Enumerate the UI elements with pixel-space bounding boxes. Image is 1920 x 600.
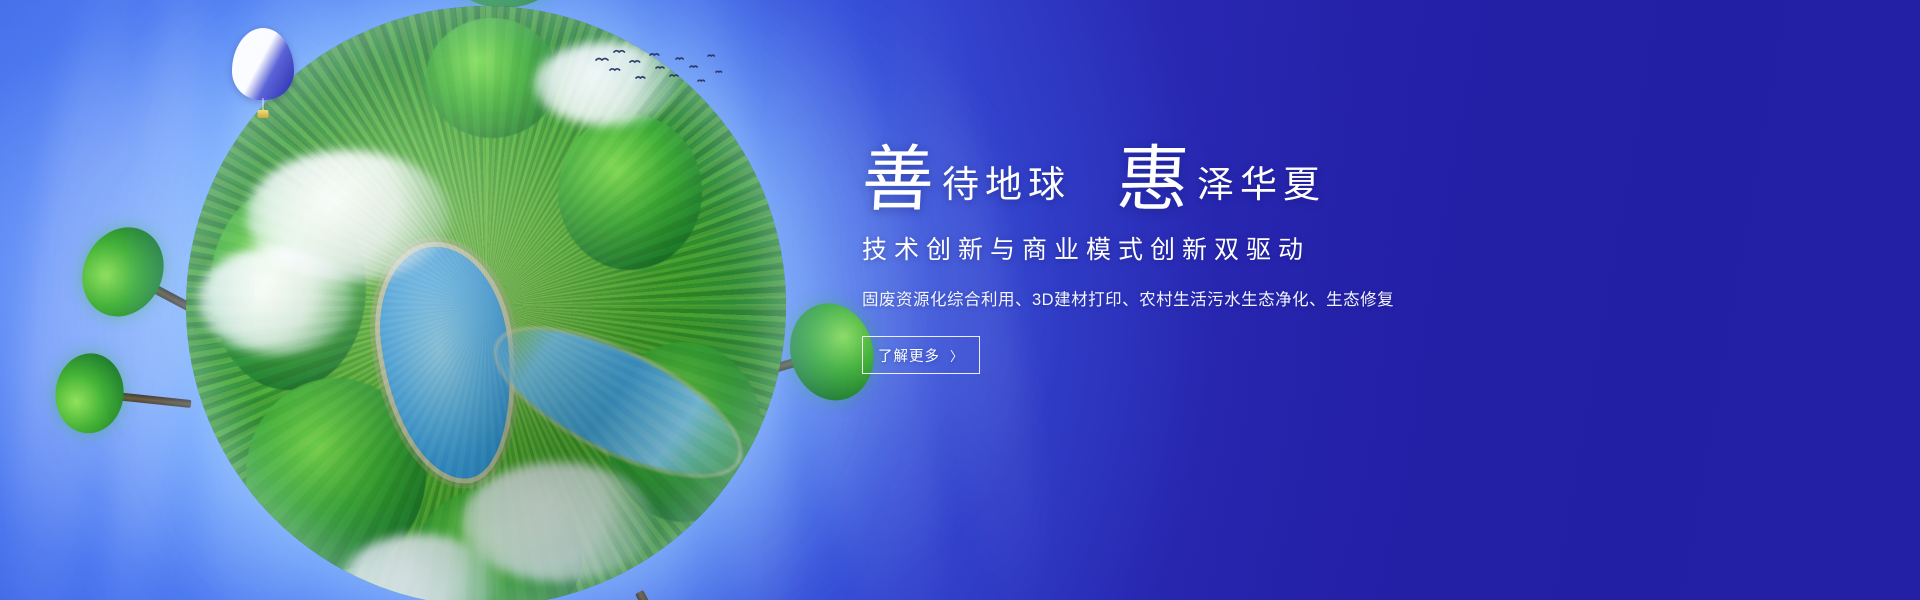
hero-banner: 善 待地球 惠 泽华夏 技术创新与商业模式创新双驱动 固废资源化综合利用、3D建… (0, 0, 1920, 600)
balloon-basket (258, 110, 269, 118)
headline-small-1: 待地球 (934, 167, 1071, 214)
headline: 善 待地球 惠 泽华夏 (862, 118, 1582, 214)
description: 固废资源化综合利用、3D建材打印、农村生活污水生态净化、生态修复 (862, 286, 1582, 310)
learn-more-label: 了解更多 (878, 345, 940, 366)
headline-big-char-1: 善 (860, 146, 936, 214)
balloon-envelope (232, 28, 294, 100)
hero-copy: 善 待地球 惠 泽华夏 技术创新与商业模式创新双驱动 固废资源化综合利用、3D建… (862, 118, 1582, 374)
hot-air-balloon-icon (232, 28, 294, 120)
tree-icon (52, 353, 195, 441)
subtitle: 技术创新与商业模式创新双驱动 (862, 230, 1582, 266)
bird-flock-icon (592, 48, 732, 94)
chevron-right-icon: 〉 (950, 346, 964, 365)
learn-more-button[interactable]: 了解更多 〉 (862, 336, 980, 374)
headline-big-char-2: 惠 (1115, 146, 1191, 214)
headline-small-2: 泽华夏 (1189, 167, 1326, 214)
